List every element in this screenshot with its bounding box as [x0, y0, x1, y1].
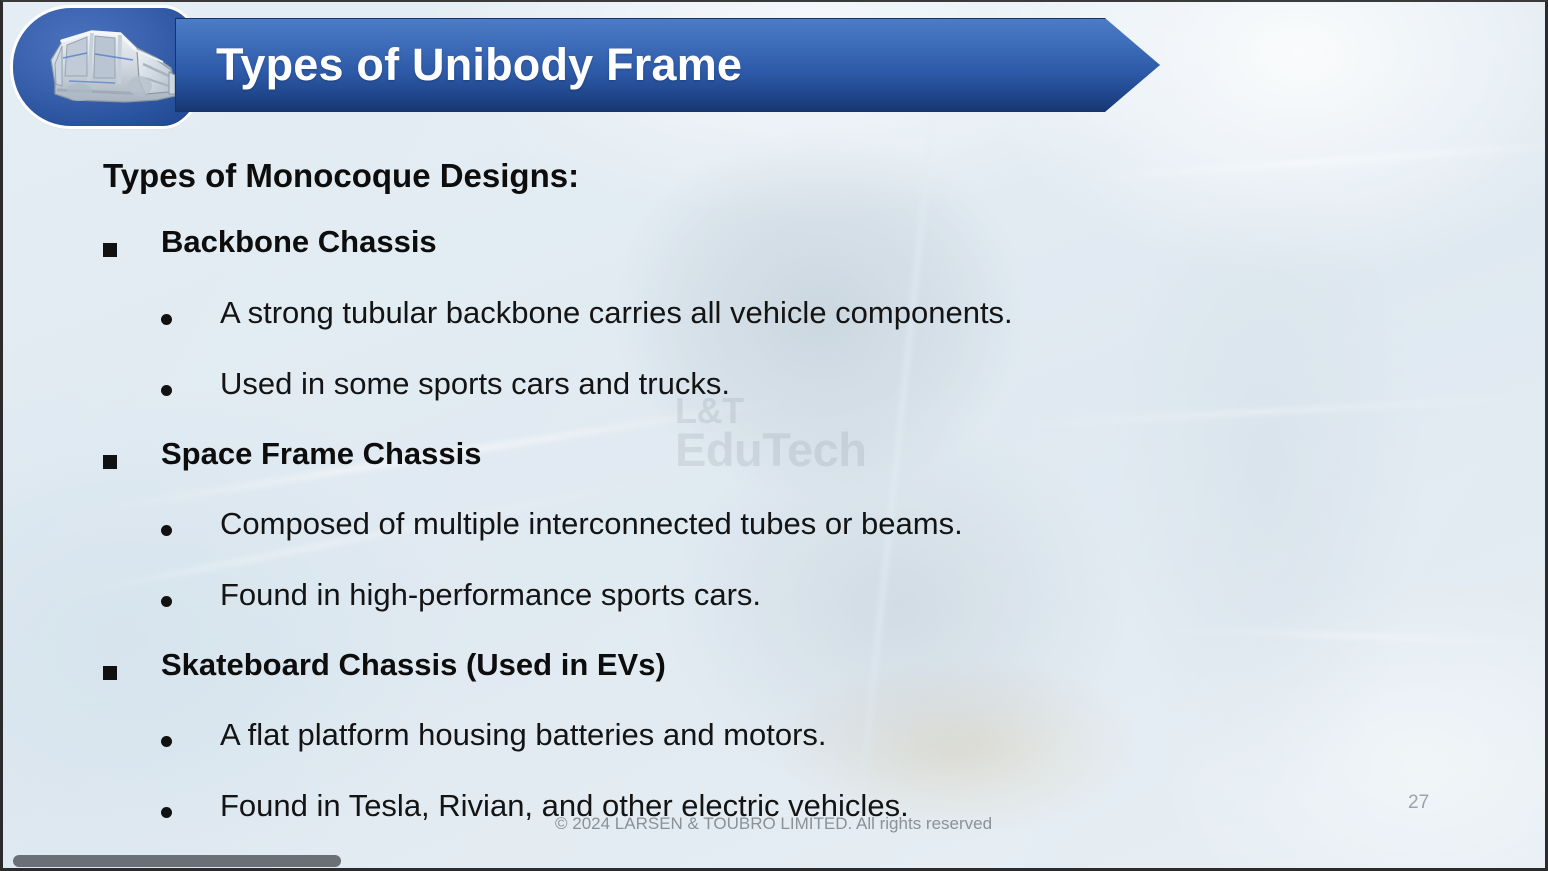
list-item: Space Frame Chassis	[103, 438, 482, 469]
list-item-label: Composed of multiple interconnected tube…	[220, 508, 963, 539]
title-banner: Types of Unibody Frame	[175, 18, 1160, 112]
page-number: 27	[1408, 792, 1429, 814]
round-bullet-icon	[161, 525, 172, 536]
list-item-label: A flat platform housing batteries and mo…	[220, 719, 827, 750]
round-bullet-icon	[161, 314, 172, 325]
watermark-line-2: EduTech	[675, 428, 935, 472]
list-item-label: Space Frame Chassis	[161, 438, 482, 469]
slide-header: Types of Unibody Frame	[3, 2, 1548, 134]
list-item: A flat platform housing batteries and mo…	[161, 719, 827, 750]
slide-viewport: L&T EduTech	[0, 0, 1548, 871]
list-item-label: Skateboard Chassis (Used in EVs)	[161, 649, 666, 680]
list-item: Used in some sports cars and trucks.	[161, 368, 730, 399]
list-item: Skateboard Chassis (Used in EVs)	[103, 649, 666, 680]
list-item: Found in high-performance sports cars.	[161, 579, 761, 610]
lead-heading: Types of Monocoque Designs:	[103, 157, 579, 195]
list-item-label: A strong tubular backbone carries all ve…	[220, 297, 1013, 328]
horizontal-scrollbar-track[interactable]	[6, 854, 1548, 868]
list-item: Composed of multiple interconnected tube…	[161, 508, 963, 539]
copyright-text: © 2024 LARSEN & TOUBRO LIMITED. All righ…	[555, 814, 992, 834]
slide-footer: © 2024 LARSEN & TOUBRO LIMITED. All righ…	[3, 814, 1548, 854]
logo-panel	[13, 8, 203, 126]
round-bullet-icon	[161, 596, 172, 607]
car-body-frame-icon	[29, 20, 189, 116]
square-bullet-icon	[103, 243, 117, 257]
round-bullet-icon	[161, 385, 172, 396]
watermark: L&T EduTech	[675, 394, 935, 472]
round-bullet-icon	[161, 736, 172, 747]
horizontal-scrollbar-thumb[interactable]	[13, 855, 341, 867]
list-item-label: Found in high-performance sports cars.	[220, 579, 761, 610]
list-item: A strong tubular backbone carries all ve…	[161, 297, 1013, 328]
square-bullet-icon	[103, 455, 117, 469]
page-title: Types of Unibody Frame	[176, 39, 742, 91]
list-item-label: Backbone Chassis	[161, 226, 437, 257]
list-item-label: Used in some sports cars and trucks.	[220, 368, 730, 399]
list-item: Backbone Chassis	[103, 226, 437, 257]
square-bullet-icon	[103, 666, 117, 680]
